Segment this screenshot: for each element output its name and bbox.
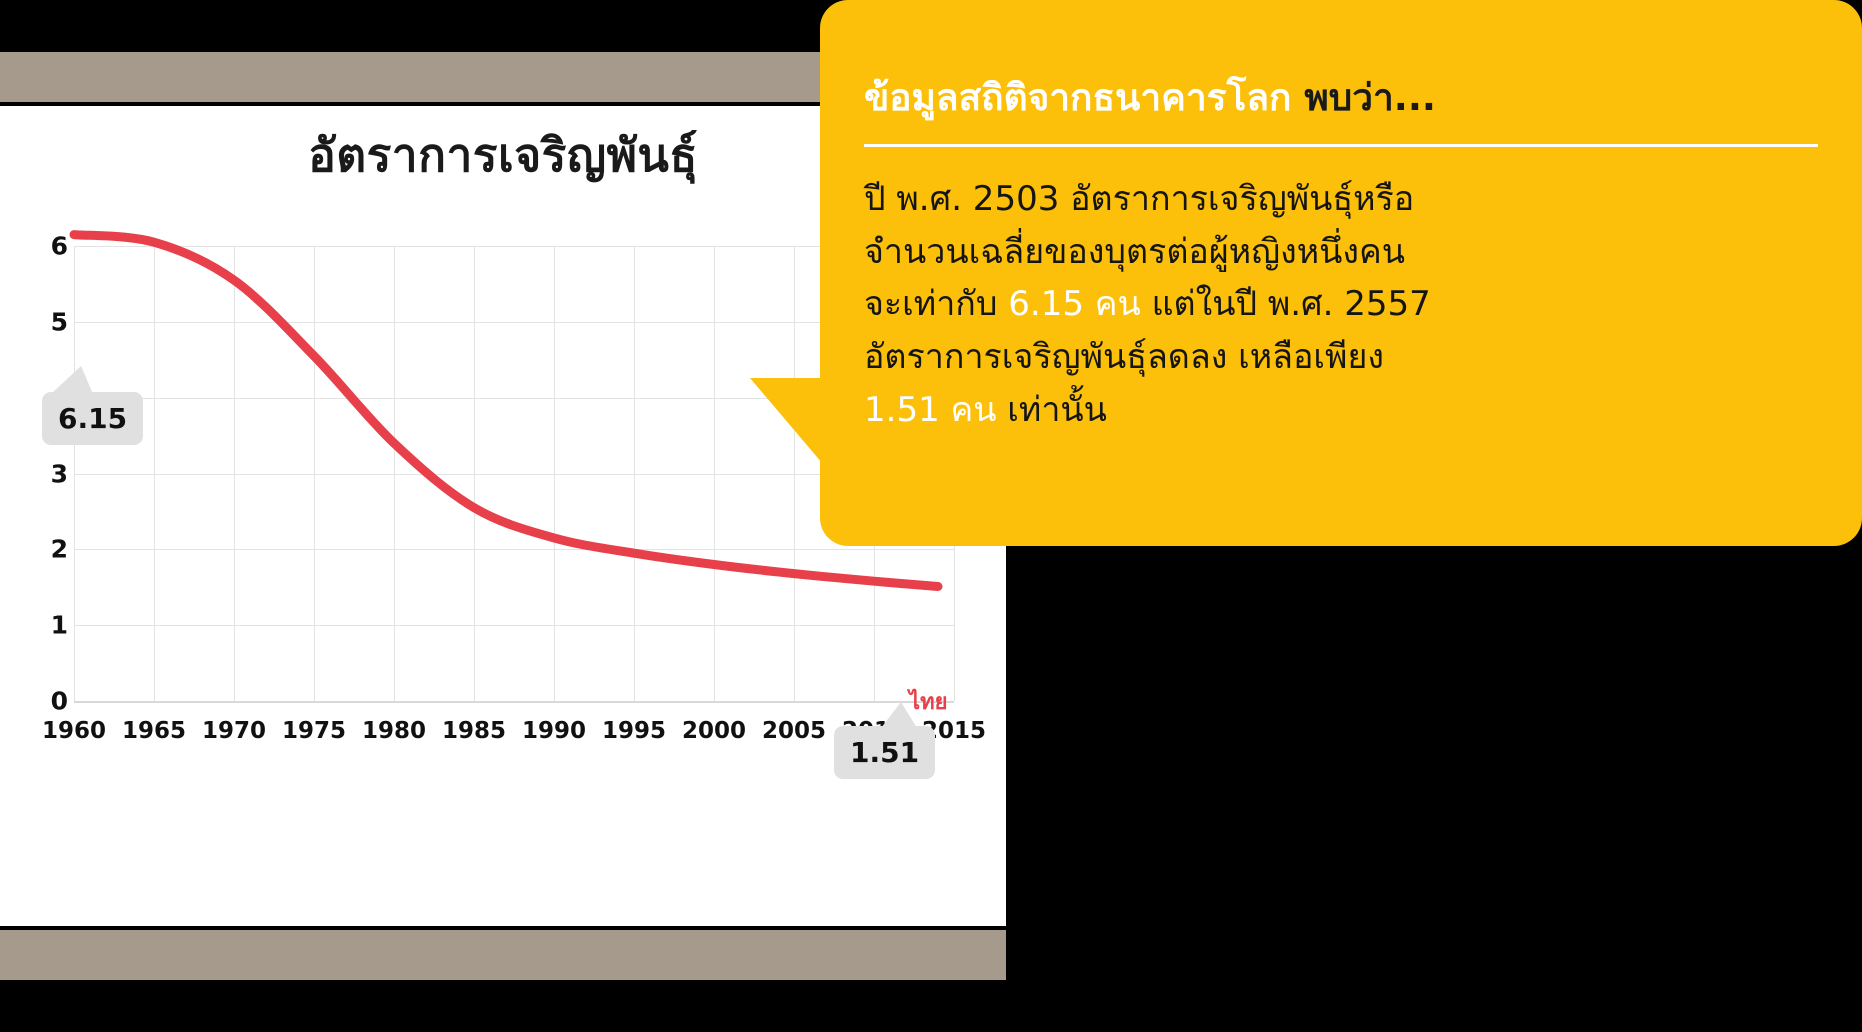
x-axis-tick-label: 1965 — [122, 718, 186, 744]
slide-rule-bottom — [0, 926, 1006, 930]
y-axis-tick-label: 1 — [34, 611, 68, 640]
y-axis-tick-label: 5 — [34, 307, 68, 336]
callout-heading-rest: พบว่า... — [1291, 76, 1435, 119]
gridline-horizontal — [74, 701, 954, 703]
tooltip-tail-icon — [881, 702, 917, 728]
slide-band-bottom — [0, 930, 1006, 980]
x-axis-tick-label: 1960 — [42, 718, 106, 744]
x-axis-tick-label: 1970 — [202, 718, 266, 744]
callout-highlight-value: 1.51 คน — [864, 390, 997, 430]
x-axis-tick-label: 1985 — [442, 718, 506, 744]
callout-text: จะเท่ากับ — [864, 284, 1008, 324]
callout-body-line: ปี พ.ศ. 2503 อัตราการเจริญพันธุ์หรือ — [864, 173, 1818, 226]
x-axis-tick-label: 2000 — [682, 718, 746, 744]
callout-body-line: 1.51 คน เท่านั้น — [864, 384, 1818, 437]
x-axis-tick-label: 1990 — [522, 718, 586, 744]
data-label-start: 6.15 — [42, 392, 143, 445]
y-axis-tick-label: 2 — [34, 535, 68, 564]
x-axis-tick-label: 2005 — [762, 718, 826, 744]
x-axis-tick-label: 1975 — [282, 718, 346, 744]
callout-text: แต่ในปี พ.ศ. 2557 — [1141, 284, 1431, 324]
y-axis-labels: 6543210 — [28, 246, 68, 701]
callout-text: ปี พ.ศ. 2503 อัตราการเจริญพันธุ์หรือ — [864, 179, 1414, 219]
callout-heading: ข้อมูลสถิติจากธนาคารโลก พบว่า... — [864, 74, 1818, 122]
callout-panel: ข้อมูลสถิติจากธนาคารโลก พบว่า... ปี พ.ศ.… — [820, 0, 1862, 546]
x-axis-labels: 1960196519701975198019851990199520002005… — [74, 718, 954, 758]
callout-divider — [864, 144, 1818, 147]
y-axis-tick-label: 6 — [34, 232, 68, 261]
callout-body: ปี พ.ศ. 2503 อัตราการเจริญพันธุ์หรือจำนว… — [864, 173, 1818, 436]
callout-pointer-icon — [750, 378, 828, 470]
callout-text: อัตราการเจริญพันธุ์ลดลง เหลือเพียง — [864, 337, 1384, 377]
callout-highlight-value: 6.15 คน — [1008, 284, 1141, 324]
x-axis-tick-label: 1980 — [362, 718, 426, 744]
callout-heading-highlight: ข้อมูลสถิติจากธนาคารโลก — [864, 76, 1291, 119]
callout-content: ข้อมูลสถิติจากธนาคารโลก พบว่า... ปี พ.ศ.… — [864, 74, 1818, 437]
y-axis-tick-label: 0 — [34, 687, 68, 716]
data-label-end: 1.51 — [834, 726, 935, 779]
slide-canvas: อัตราการเจริญพันธุ์ 6543210 196019651970… — [0, 0, 1862, 1032]
data-label-end-value: 1.51 — [850, 736, 919, 769]
data-label-start-value: 6.15 — [58, 402, 127, 435]
callout-body-line: จะเท่ากับ 6.15 คน แต่ในปี พ.ศ. 2557 — [864, 278, 1818, 331]
callout-text: เท่านั้น — [997, 390, 1107, 430]
y-axis-tick-label: 3 — [34, 459, 68, 488]
callout-body-line: อัตราการเจริญพันธุ์ลดลง เหลือเพียง — [864, 331, 1818, 384]
callout-body-line: จำนวนเฉลี่ยของบุตรต่อผู้หญิงหนึ่งคน — [864, 226, 1818, 279]
x-axis-tick-label: 1995 — [602, 718, 666, 744]
callout-text: จำนวนเฉลี่ยของบุตรต่อผู้หญิงหนึ่งคน — [864, 232, 1405, 272]
